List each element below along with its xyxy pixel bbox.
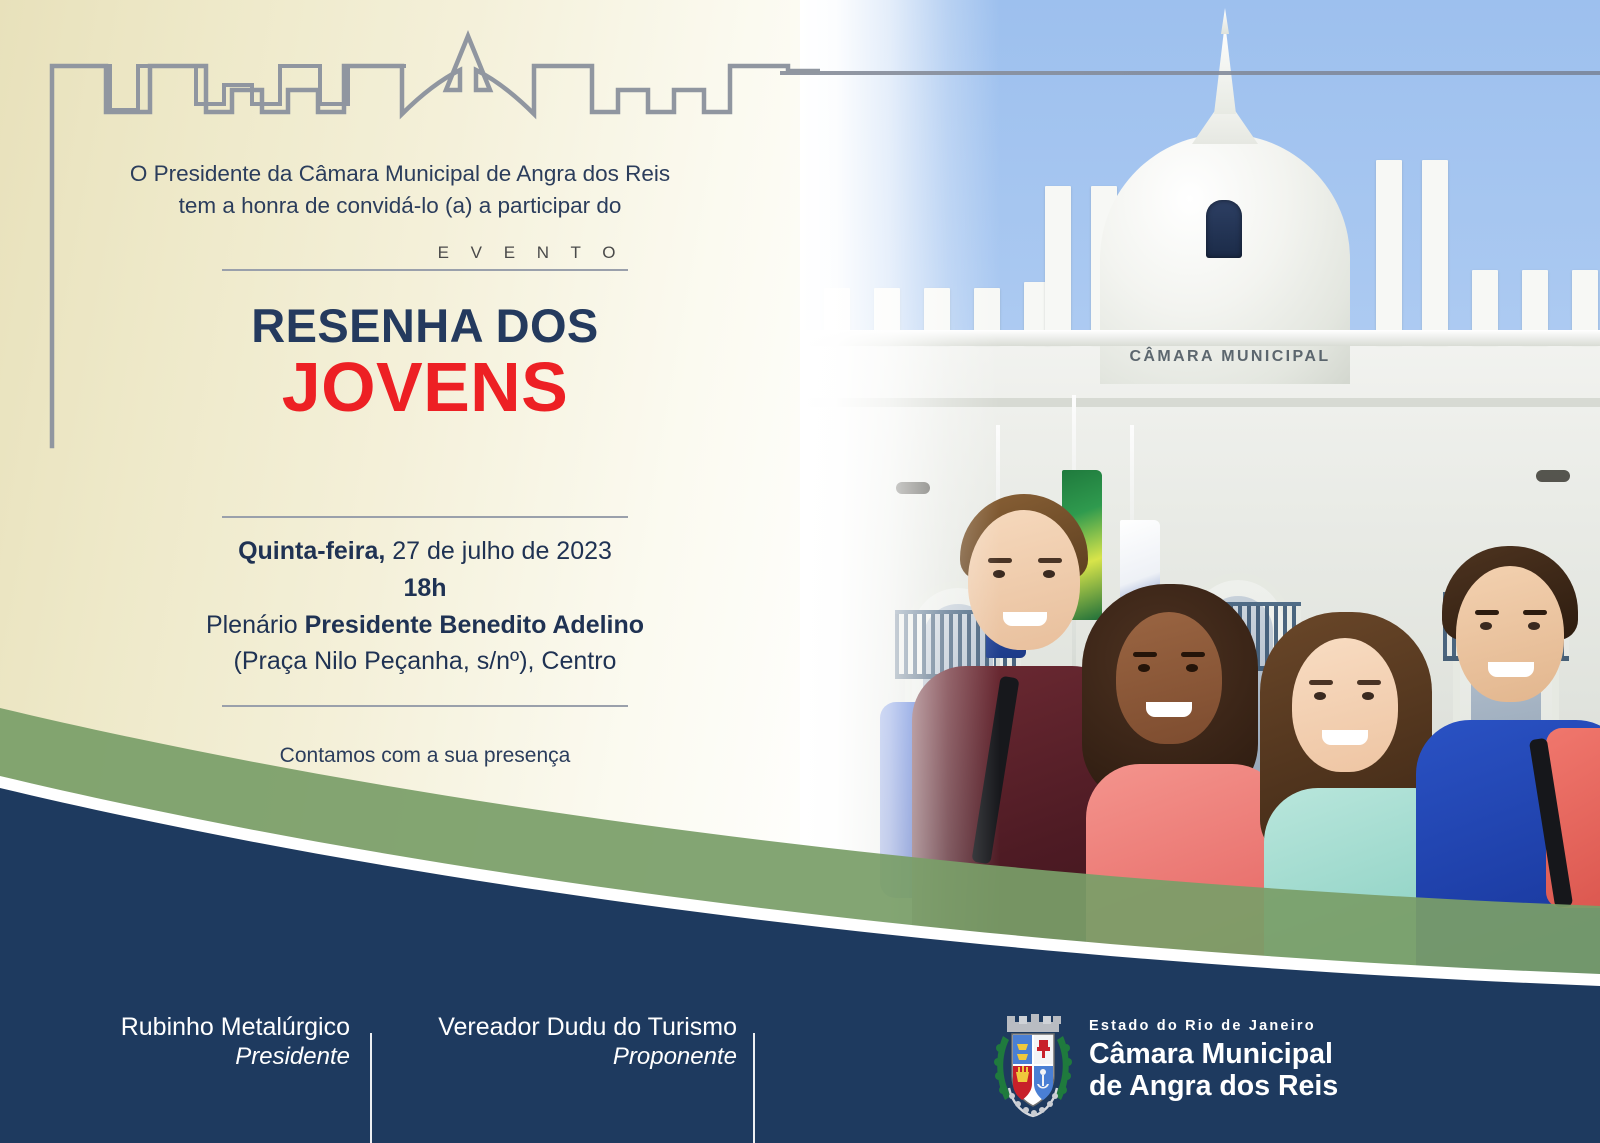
tower-merlon [1045,186,1071,344]
signatory-role: Proponente [400,1043,737,1071]
logo-name-line-1: Câmara Municipal [1089,1039,1338,1071]
footer-divider-1 [370,1033,372,1143]
event-date: Quinta-feira, 27 de julho de 2023 [150,533,700,570]
skyline-path [0,0,820,470]
footer-divider-2 [753,1033,755,1143]
divider-below-details [222,705,628,707]
logo-name-line-2: de Angra dos Reis [1089,1071,1338,1103]
top-horizontal-line [780,71,1600,75]
signatory-2: Vereador Dudu do Turismo Proponente [400,1013,737,1071]
signatory-name: Rubinho Metalúrgico [30,1013,350,1043]
camara-logo: Estado do Rio de Janeiro Câmara Municipa… [985,1012,1405,1122]
event-weekday: Quinta-feira, [238,537,385,565]
invitation-poster: CÂMARA MUNICIPAL [0,0,1600,1143]
event-details: Quinta-feira, 27 de julho de 2023 18h Pl… [150,533,700,680]
event-venue: Plenário Presidente Benedito Adelino [150,607,700,644]
venue-name: Presidente Benedito Adelino [305,611,644,639]
signatory-1: Rubinho Metalúrgico Presidente [30,1013,350,1071]
venue-prefix: Plenário [206,611,305,639]
tower-merlon [1422,160,1448,344]
tower-merlon [1376,160,1402,344]
closing-text: Contamos com a sua presença [150,744,700,768]
coat-of-arms-icon [985,1014,1081,1120]
signatory-role: Presidente [30,1043,350,1071]
building-sign-text: CÂMARA MUNICIPAL [1100,348,1360,366]
logo-text-block: Estado do Rio de Janeiro Câmara Municipa… [1089,1018,1338,1103]
signatory-name: Vereador Dudu do Turismo [400,1013,737,1043]
dome-emblem [1206,200,1242,258]
logo-state-label: Estado do Rio de Janeiro [1089,1018,1338,1034]
event-date-rest: 27 de julho de 2023 [385,537,612,565]
event-time: 18h [150,570,700,607]
dome [1100,134,1350,384]
event-address: (Praça Nilo Peçanha, s/nº), Centro [150,643,700,680]
divider-above-details [222,516,628,518]
